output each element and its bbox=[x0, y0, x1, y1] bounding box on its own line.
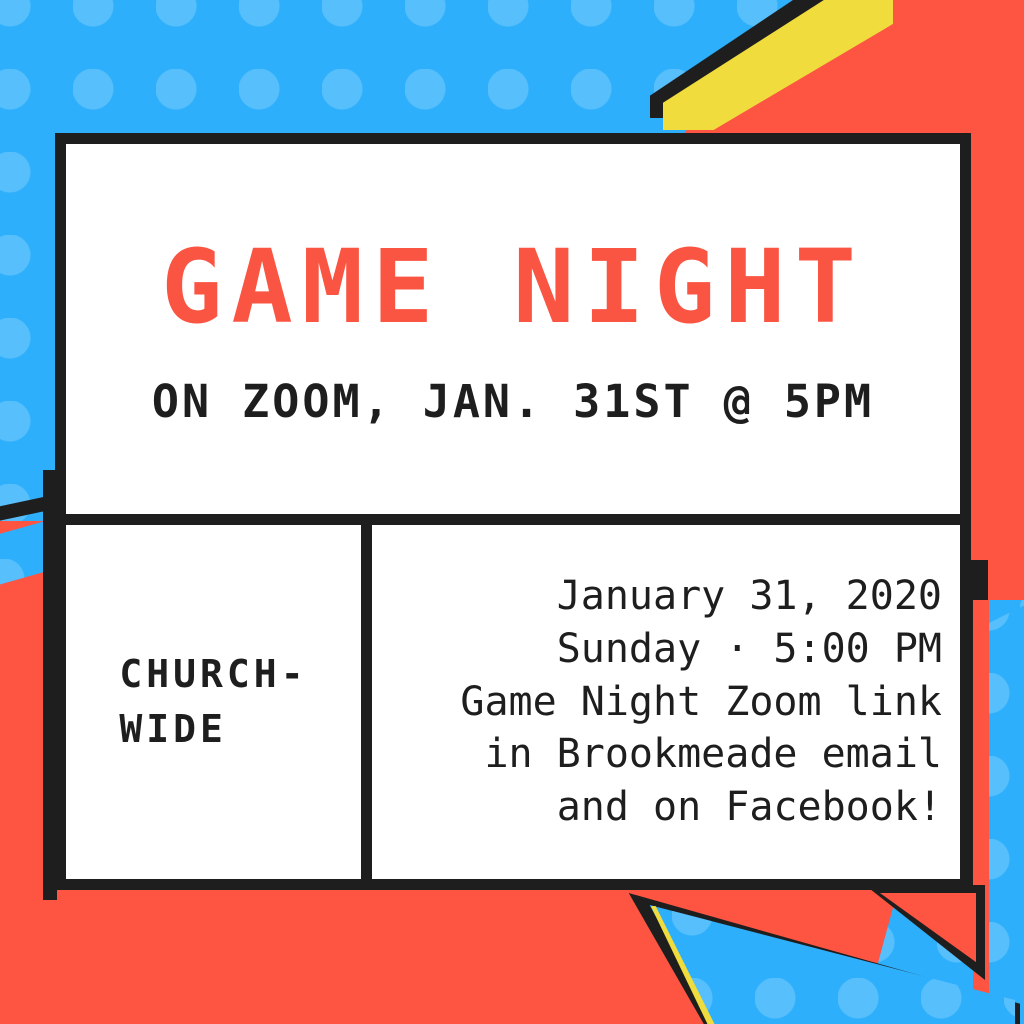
audience-cell: CHURCH- WIDE bbox=[66, 525, 361, 879]
info-row: CHURCH- WIDE January 31, 2020 Sunday · 5… bbox=[66, 525, 960, 879]
vertical-divider bbox=[361, 525, 372, 879]
horizontal-divider bbox=[66, 514, 960, 525]
poster-title: GAME NIGHT bbox=[161, 237, 865, 339]
event-card: GAME NIGHT ON ZOOM, JAN. 31ST @ 5PM CHUR… bbox=[55, 133, 971, 890]
poster-subtitle: ON ZOOM, JAN. 31ST @ 5PM bbox=[152, 375, 874, 428]
event-card-inner: GAME NIGHT ON ZOOM, JAN. 31ST @ 5PM CHUR… bbox=[66, 144, 960, 879]
audience-label: CHURCH- WIDE bbox=[119, 647, 307, 757]
poster-canvas: GAME NIGHT ON ZOOM, JAN. 31ST @ 5PM CHUR… bbox=[0, 0, 1024, 1024]
event-details: January 31, 2020 Sunday · 5:00 PM Game N… bbox=[460, 570, 942, 834]
hero-section: GAME NIGHT ON ZOOM, JAN. 31ST @ 5PM bbox=[66, 144, 960, 514]
details-cell: January 31, 2020 Sunday · 5:00 PM Game N… bbox=[372, 525, 960, 879]
